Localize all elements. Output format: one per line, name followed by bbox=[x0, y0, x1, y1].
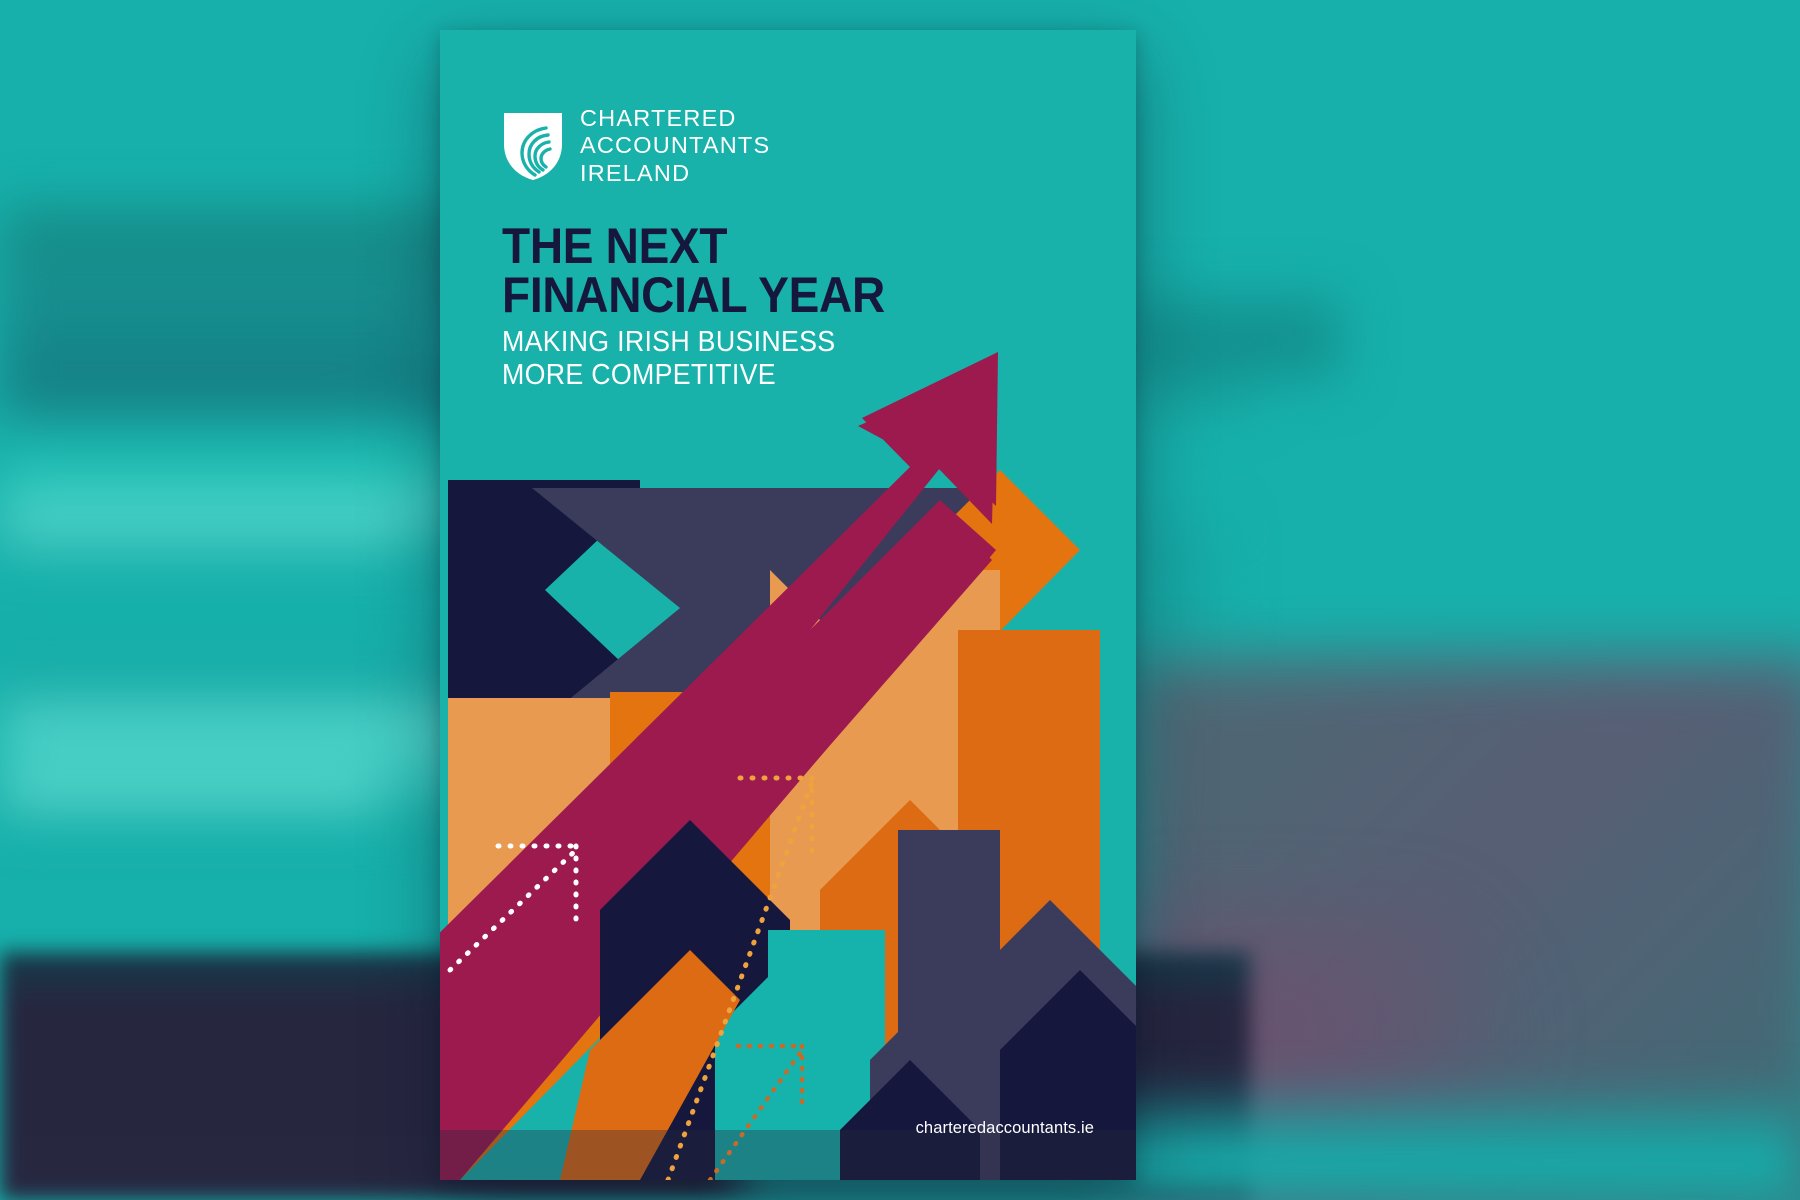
subtitle-line-2: MORE COMPETITIVE bbox=[502, 359, 1085, 392]
screenshot-canvas: CHARTERED ACCOUNTANTS IRELAND THE NEXT F… bbox=[0, 0, 1800, 1200]
arrow-navy-right-tall bbox=[898, 830, 1000, 1040]
cover-title: THE NEXT FINANCIAL YEAR bbox=[502, 222, 1122, 320]
logo-line-3: IRELAND bbox=[580, 160, 770, 187]
report-cover[interactable]: CHARTERED ACCOUNTANTS IRELAND THE NEXT F… bbox=[440, 30, 1136, 1180]
cover-artwork bbox=[440, 30, 1136, 1180]
chartered-accountants-shield-icon bbox=[502, 110, 564, 182]
cover-subtitle: MAKING IRISH BUSINESS MORE COMPETITIVE bbox=[502, 326, 1122, 392]
website-url[interactable]: charteredaccountants.ie bbox=[916, 1119, 1094, 1138]
publisher-logo[interactable]: CHARTERED ACCOUNTANTS IRELAND bbox=[502, 105, 770, 187]
publisher-name: CHARTERED ACCOUNTANTS IRELAND bbox=[580, 105, 770, 187]
title-line-2: FINANCIAL YEAR bbox=[502, 271, 1072, 320]
title-line-1: THE NEXT bbox=[502, 222, 1072, 271]
subtitle-line-1: MAKING IRISH BUSINESS bbox=[502, 326, 1085, 359]
logo-line-2: ACCOUNTANTS bbox=[580, 132, 770, 159]
logo-line-1: CHARTERED bbox=[580, 105, 770, 132]
